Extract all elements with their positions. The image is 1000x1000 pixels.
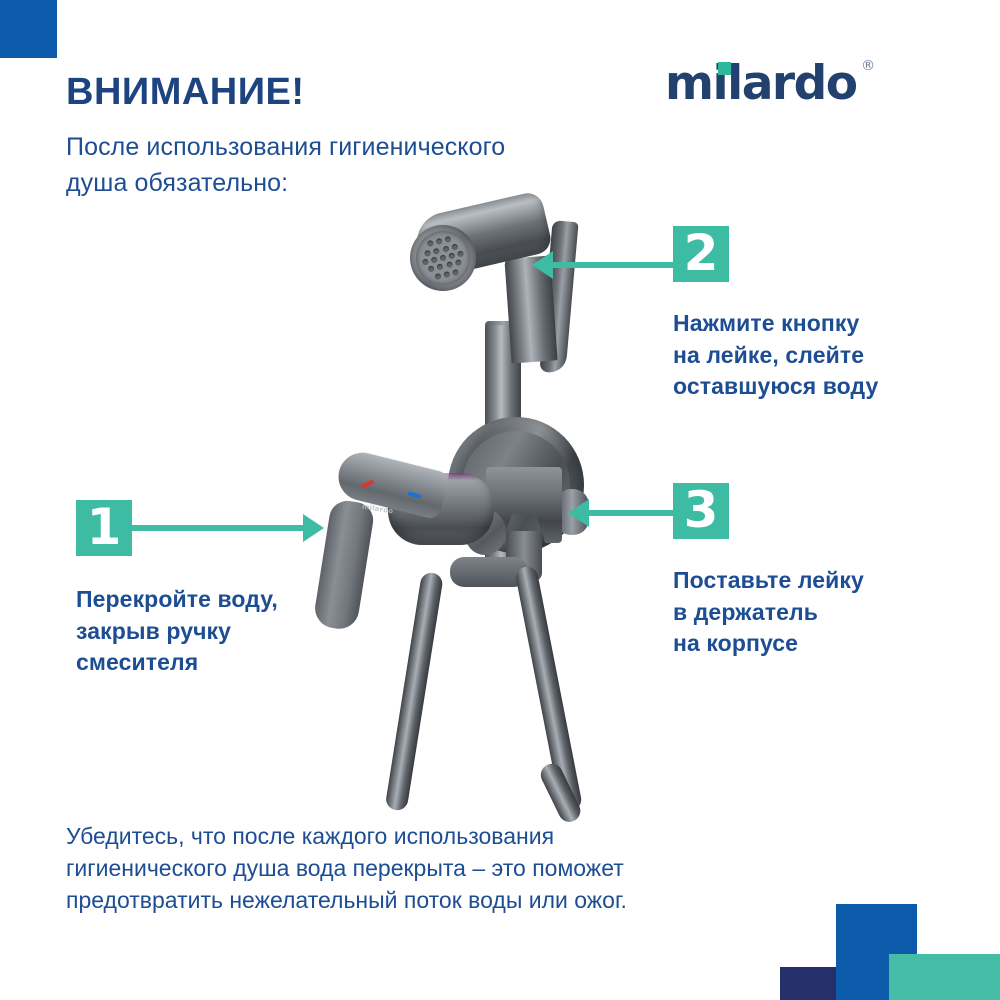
page-subtitle: После использования гигиенического душа …	[66, 130, 505, 201]
step-1-arrow-icon	[132, 525, 304, 531]
step-2-text: Нажмите кнопку на лейке, слейте оставшую…	[673, 308, 973, 403]
step-2-number-badge: 2	[673, 226, 729, 282]
logo-dot-icon	[718, 62, 731, 75]
step-1-text: Перекройте воду, закрыв ручку смесителя	[76, 584, 406, 679]
step-2: 2 Нажмите кнопку на лейке, слейте оставш…	[673, 226, 729, 282]
brand-logo: milardo ®	[665, 60, 857, 107]
step-3-number-badge: 3	[673, 483, 729, 539]
sprayer-nozzle-face	[411, 226, 476, 291]
poster-canvas: milardo ® ВНИМАНИЕ! После использования …	[0, 0, 1000, 1000]
step-3-arrow-icon	[588, 510, 673, 516]
corner-accent-teal	[889, 954, 1000, 1000]
step-2-arrow-icon	[552, 262, 673, 268]
page-title: ВНИМАНИЕ!	[66, 73, 305, 111]
corner-accent-top-left	[0, 0, 57, 58]
footer-note: Убедитесь, что после каждого использован…	[66, 820, 796, 917]
registered-trademark-icon: ®	[861, 59, 874, 73]
step-1-number-badge: 1	[76, 500, 132, 556]
sprayer-head-group	[396, 205, 576, 415]
step-1: 1 Перекройте воду, закрыв ручку смесител…	[76, 500, 132, 556]
step-3: 3 Поставьте лейку в держатель на корпусе	[673, 483, 729, 539]
brand-logo-text: milardo	[665, 56, 857, 111]
step-3-text: Поставьте лейку в держатель на корпусе	[673, 565, 973, 660]
